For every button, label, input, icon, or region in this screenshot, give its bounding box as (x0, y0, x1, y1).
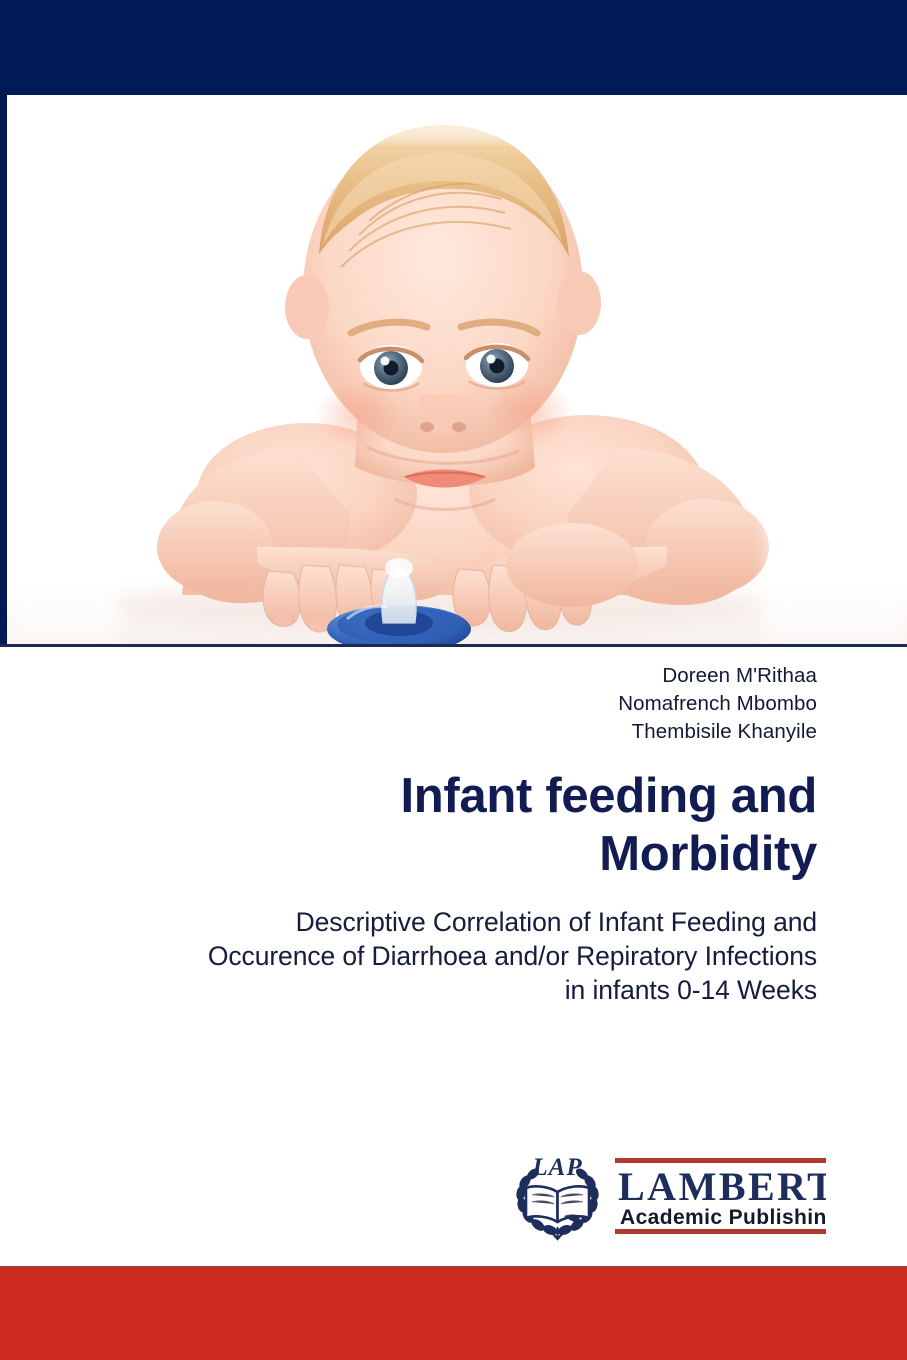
publisher-name: LAMBERT (618, 1164, 826, 1209)
book-subtitle: Descriptive Correlation of Infant Feedin… (60, 905, 817, 1007)
logo-bottom-rule (615, 1229, 826, 1234)
publisher-logo: LAP LAMBERT Academic Publishing (512, 1148, 826, 1244)
top-navy-band (0, 0, 907, 95)
book-title: Infant feeding and Morbidity (60, 767, 817, 883)
photo-bottom-rule (0, 644, 907, 647)
book-subtitle-line: Occurence of Diarrhoea and/or Repiratory… (60, 939, 817, 973)
publisher-tagline: Academic Publishing (620, 1206, 826, 1229)
book-subtitle-line: in infants 0-14 Weeks (60, 973, 817, 1007)
book-cover: Doreen M'Rithaa Nomafrench Mbombo Thembi… (0, 0, 907, 1360)
author-name: Doreen M'Rithaa (60, 662, 817, 690)
bottom-red-band (0, 1268, 907, 1360)
logo-top-rule (615, 1158, 826, 1163)
cover-text-block: Doreen M'Rithaa Nomafrench Mbombo Thembi… (60, 662, 817, 1007)
left-navy-strip (0, 95, 7, 647)
book-title-line: Infant feeding and (60, 767, 817, 825)
cover-photo (7, 95, 907, 644)
author-name: Thembisile Khanyile (60, 718, 817, 746)
book-title-line: Morbidity (60, 825, 817, 883)
author-name: Nomafrench Mbombo (60, 690, 817, 718)
lap-emblem-icon: LAP (515, 1154, 600, 1239)
authors-list: Doreen M'Rithaa Nomafrench Mbombo Thembi… (60, 662, 817, 746)
book-subtitle-line: Descriptive Correlation of Infant Feedin… (60, 905, 817, 939)
svg-text:LAP: LAP (531, 1154, 582, 1181)
